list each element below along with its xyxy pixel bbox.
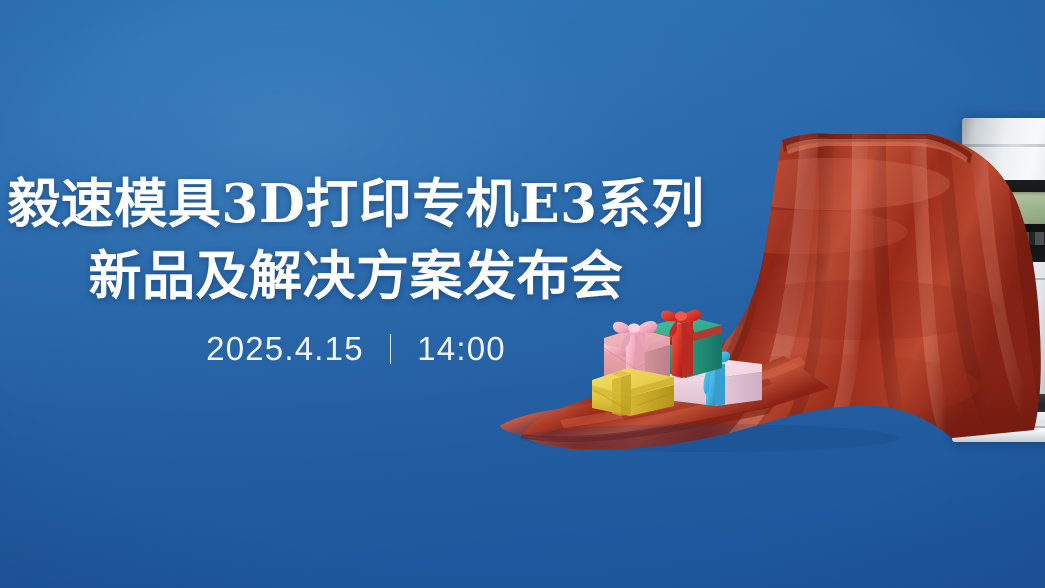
- banner-text-block: 毅速模具3D打印专机E3系列 新品及解决方案发布会 2025.4.15 14:0…: [0, 168, 712, 368]
- 3d-printer-machine: [962, 118, 1045, 440]
- headline-line-1: 毅速模具3D打印专机E3系列: [0, 168, 712, 240]
- machine-lower-seam: [962, 278, 1045, 280]
- event-datetime: 2025.4.15 14:00: [0, 330, 712, 368]
- machine-top-seam: [962, 144, 1045, 147]
- datetime-separator-icon: [390, 334, 392, 364]
- event-time: 14:00: [417, 330, 506, 368]
- machine-display-screen: [988, 192, 1045, 224]
- machine-keypad: [990, 232, 1045, 245]
- machine-plinth: [956, 394, 1045, 414]
- drape-ground-shadow: [520, 424, 900, 452]
- event-banner: 毅速模具3D打印专机E3系列 新品及解决方案发布会 2025.4.15 14:0…: [0, 0, 1045, 588]
- event-date: 2025.4.15: [206, 330, 364, 368]
- machine-control-panel: [968, 180, 1045, 262]
- machine-base-line: [952, 426, 1045, 428]
- headline-line-2: 新品及解决方案发布会: [0, 240, 712, 312]
